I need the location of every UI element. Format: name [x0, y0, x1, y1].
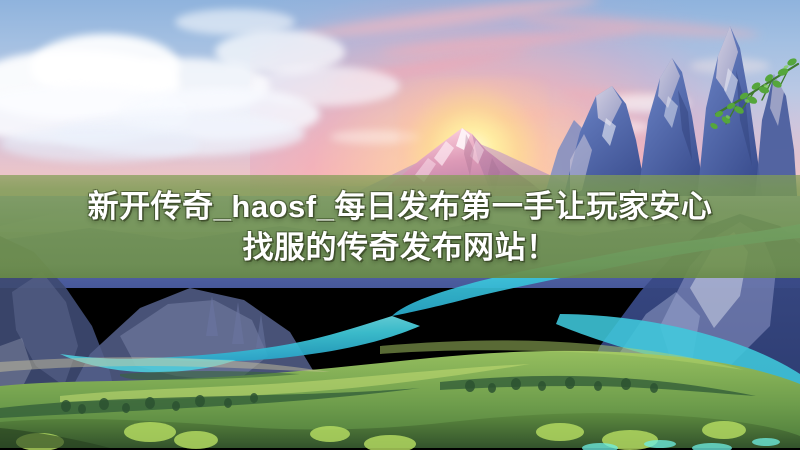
banner-headline-line-1: 新开传奇_haosf_每日发布第一手让玩家安心: [88, 186, 713, 227]
banner-text-block: 新开传奇_haosf_每日发布第一手让玩家安心 找服的传奇发布网站！: [0, 175, 800, 278]
banner-headline-line-2: 找服的传奇发布网站！: [243, 227, 558, 268]
landscape-banner-image: 新开传奇_haosf_每日发布第一手让玩家安心 找服的传奇发布网站！: [0, 0, 800, 450]
